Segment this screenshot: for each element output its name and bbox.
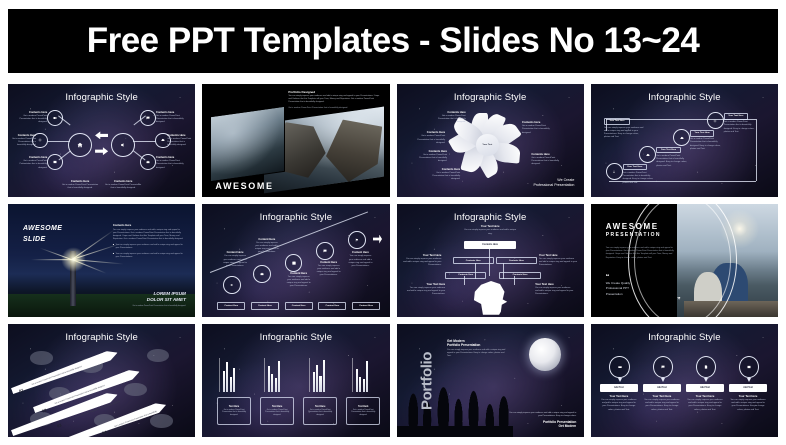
- label-heading: Contents Here: [17, 156, 47, 159]
- label-block: Contents Here Get a modern PowerPoint Pr…: [167, 134, 193, 147]
- side-label: Your Text Here: [402, 254, 441, 257]
- add-text-button-2[interactable]: Add Text: [643, 384, 680, 392]
- tree-silhouettes: [397, 360, 513, 437]
- label-body: Get a modern PowerPoint Presentation tha…: [60, 184, 99, 190]
- timeline-text-1: Content Here You can simply impress your…: [223, 251, 247, 268]
- mountain-photo-inset: [210, 106, 285, 182]
- step-body: Get a modern PowerPoint Presentation tha…: [724, 121, 756, 134]
- label-heading: Contents Here: [522, 121, 558, 124]
- slide-title: Infographic Style: [8, 332, 195, 343]
- label-body: Get a modern PowerPoint Presentation tha…: [167, 138, 193, 147]
- add-text-button-1[interactable]: Add Text: [600, 384, 637, 392]
- label-block: Contents Here Get a modern PowerPoint Pr…: [411, 150, 447, 163]
- callout-body: You can simply impress your audience and…: [604, 127, 645, 140]
- headline-1: Get Modern: [447, 339, 509, 343]
- slide-thumbnail-1[interactable]: Infographic Style: [8, 84, 195, 197]
- top-body: You can simply impress your audience and…: [464, 229, 516, 235]
- contents-block: Contents Here You can simply impress you…: [113, 224, 184, 259]
- timeline-icon-calendar: [285, 254, 303, 272]
- slide-title: Infographic Style: [591, 92, 778, 103]
- bar: [323, 360, 325, 392]
- header-banner: Free PPT Templates - Slides No 13~24: [8, 9, 778, 73]
- step-body-block: Get a modern PowerPoint Presentation tha…: [690, 138, 722, 151]
- quote-block: “ We Create Quality Professional PPT Pre…: [606, 275, 681, 303]
- slide-title: Infographic Style: [591, 332, 778, 343]
- label-body: Get a modern PowerPoint Presentation tha…: [531, 157, 567, 166]
- cloud-shape: [30, 351, 52, 365]
- card-body: Get a modern PowerPoint Presentation tha…: [262, 409, 292, 417]
- caption-body: You can simply impress your audience and…: [288, 95, 382, 104]
- timeline-text-2: Content Here You can simply impress your…: [255, 238, 279, 255]
- pin-head: [696, 356, 717, 379]
- label-body: Get a modern PowerPoint Presentation tha…: [410, 135, 446, 144]
- headline-2: Portfolio Presentation: [447, 343, 509, 347]
- pin-text-2: Your Text Here You can simply impress yo…: [643, 395, 680, 412]
- label-body: Get a modern PowerPoint Presentation tha…: [425, 172, 461, 181]
- page-root: Free PPT Templates - Slides No 13~24 Inf…: [0, 0, 786, 445]
- portfolio-caption: Portfolio Designed You can simply impres…: [288, 90, 382, 109]
- headline-block: Get Modern Portfolio Presentation You ca…: [447, 339, 509, 359]
- side-label-block: Your Text Here You can simply impress yo…: [406, 283, 445, 296]
- card-body: Get a modern PowerPoint Presentation tha…: [219, 409, 249, 417]
- pin-tail: [704, 378, 708, 382]
- footer-body: You can simply impress your audience and…: [509, 412, 576, 418]
- arrow-number-2: 02: [41, 407, 47, 413]
- side-label: Your Text Here: [539, 254, 578, 257]
- bar: [223, 371, 225, 392]
- step-body: Get a modern PowerPoint Presentation tha…: [623, 172, 655, 185]
- page-title: Free PPT Templates - Slides No 13~24: [87, 21, 700, 61]
- pin-body: You can simply impress your audience and…: [643, 399, 680, 412]
- side-body: You can simply impress your audience and…: [539, 258, 578, 267]
- label-block: Contents Here Get a modern PowerPoint Pr…: [10, 134, 36, 147]
- cloud-shape: [124, 383, 146, 397]
- label-heading: Contents Here: [156, 156, 186, 159]
- bar: [278, 361, 280, 392]
- step-body: You can simply impress your audience and…: [348, 255, 372, 268]
- side-body: You can simply impress your audience and…: [402, 258, 441, 267]
- bar: [313, 372, 315, 392]
- chart-axis: [309, 358, 310, 392]
- label-block: Contents Here Get a modern PowerPoint Pr…: [17, 111, 47, 124]
- footer-line-1: LOREM IPSUM: [132, 291, 185, 298]
- pin-tail: [618, 378, 622, 382]
- add-text-button-3[interactable]: Add Text: [686, 384, 723, 392]
- card-heading: Text Here: [229, 406, 239, 408]
- timeline-icon-briefcase: [253, 265, 271, 283]
- card-icon: [610, 357, 629, 378]
- bar: [319, 376, 321, 392]
- node-mid-left[interactable]: Contents Here: [453, 257, 494, 264]
- pin-head: [609, 356, 630, 379]
- pin-1[interactable]: [609, 356, 630, 379]
- label-heading: Contents Here: [425, 168, 461, 171]
- document-icon: [697, 357, 716, 378]
- timeline-button-1[interactable]: Content Here: [217, 302, 245, 310]
- step-body-block: Get a modern PowerPoint Presentation tha…: [724, 121, 756, 134]
- step-heading: Content Here: [316, 261, 340, 264]
- pin-body: You can simply impress your audience and…: [600, 399, 637, 412]
- bullet-text: You can simply impress your audience and…: [116, 253, 184, 259]
- contents-body: You can simply impress your audience and…: [113, 229, 184, 241]
- node-low-left[interactable]: Contents Here: [445, 272, 486, 279]
- chart-axis: [219, 358, 220, 392]
- bar: [366, 361, 368, 392]
- card-body: Get a modern PowerPoint Presentation tha…: [348, 409, 378, 417]
- step-heading: Content Here: [287, 272, 311, 275]
- title-line-1: AWESOME: [23, 224, 62, 235]
- step-body-block: Get a modern PowerPoint Presentation tha…: [656, 155, 688, 168]
- callout-label[interactable]: Your Text Here: [604, 118, 630, 125]
- slide-thumbnail-3[interactable]: Infographic Style Your Text Contents Her…: [397, 84, 584, 197]
- slide-title: AWESOME SLIDE: [23, 224, 62, 245]
- timeline-text-5: Content Here You can simply impress your…: [348, 251, 372, 268]
- side-label: Your Text Here: [535, 283, 574, 286]
- slide-thumbnail-9[interactable]: Infographic Style 01 Get a modern PowerP…: [8, 324, 195, 437]
- timeline-text-3: Content Here You can simply impress your…: [287, 272, 311, 289]
- bar: [356, 369, 358, 391]
- slide-footer: LOREM IPSUM DOLOR SIT AMET Get a modern …: [132, 291, 185, 308]
- side-label-block: Your Text Here You can simply impress yo…: [539, 254, 578, 267]
- label-body: Get a modern PowerPoint Presentation tha…: [156, 160, 186, 169]
- top-label-block: Your Text Here You can simply impress yo…: [464, 225, 516, 235]
- card-heading: Text Here: [315, 406, 325, 408]
- timeline-button-5[interactable]: Content Here: [352, 302, 380, 310]
- label-block: Contents Here Get a modern PowerPoint Pr…: [156, 111, 186, 124]
- timeline-button-2[interactable]: Content Here: [251, 302, 279, 310]
- core-label: Your Text: [482, 144, 492, 146]
- side-label-block: Your Text Here You can simply impress yo…: [535, 283, 574, 296]
- label-heading: Contents Here: [60, 180, 99, 183]
- bar: [233, 368, 235, 392]
- label-heading: Contents Here: [167, 134, 193, 137]
- title-line-2: SLIDE: [23, 235, 62, 246]
- bar: [226, 362, 228, 392]
- pin-tail: [661, 378, 665, 382]
- label-heading: Contents Here: [156, 111, 186, 114]
- label-block: Contents Here Get a modern PowerPoint Pr…: [430, 111, 466, 124]
- slide-title: Infographic Style: [202, 332, 389, 343]
- step-body: You can simply impress your audience and…: [255, 242, 279, 255]
- label-block: Contents Here Get a modern PowerPoint Pr…: [410, 131, 446, 144]
- slide-thumbnail-6[interactable]: Infographic Style Content Here You can s…: [202, 204, 389, 317]
- flower-core: Your Text: [476, 134, 498, 157]
- step-body: Get a modern PowerPoint Presentation tha…: [690, 138, 722, 151]
- bar-chart-group-2: [268, 358, 280, 392]
- step-icon-download: [606, 163, 623, 180]
- contents-heading: Contents Here: [113, 224, 184, 227]
- pin-heading: Your Text Here: [686, 395, 723, 398]
- footer-sub: Get a modern PowerPoint Presentation tha…: [132, 305, 185, 308]
- bar: [275, 378, 277, 392]
- step-body: You can simply impress your audience and…: [223, 255, 247, 268]
- chart-card-4[interactable]: Text Here Get a modern PowerPoint Presen…: [346, 397, 380, 424]
- title-line-2: PRESENTATION: [606, 232, 661, 238]
- add-text-button-4[interactable]: Add Text: [729, 384, 766, 392]
- label-block: Contents Here Get a modern PowerPoint Pr…: [531, 153, 567, 166]
- label-heading: Contents Here: [430, 111, 466, 114]
- slide-thumbnail-5[interactable]: AWESOME SLIDE Contents Here You can simp…: [8, 204, 195, 317]
- pin-heading: Your Text Here: [600, 395, 637, 398]
- card-heading: Text Here: [272, 406, 282, 408]
- timeline-icon-megaphone: [223, 276, 241, 294]
- callout-body-block: You can simply impress your audience and…: [604, 127, 645, 140]
- slide-thumbnail-12[interactable]: Infographic Style: [591, 324, 778, 437]
- label-heading: Contents Here: [103, 180, 142, 183]
- chart-axis: [264, 358, 265, 392]
- bar-chart-group-3: [313, 358, 325, 392]
- bullet-item: You can simply impress your audience and…: [113, 253, 184, 259]
- label-body: Get a modern PowerPoint Presentation tha…: [103, 184, 142, 190]
- slide-thumbnail-11[interactable]: Portfolio Get Modern Portfolio Presentat…: [397, 324, 584, 437]
- footer-line-2: Professional Presentation: [533, 183, 574, 189]
- label-body: Get a modern PowerPoint Presentation tha…: [522, 125, 558, 134]
- footer-line-2: DOLOR SIT AMET: [132, 297, 185, 304]
- step-label-1[interactable]: Your Text Here: [623, 164, 647, 170]
- step-label-3[interactable]: Your Text Here: [690, 130, 714, 136]
- slide-title: Infographic Style: [8, 92, 195, 103]
- bar: [230, 377, 232, 392]
- bar-chart-group-1: [223, 358, 235, 392]
- slide-body: You can simply impress your audience and…: [606, 247, 675, 260]
- slide-title: AWESOME PRESENTATION: [606, 222, 661, 238]
- label-block: Contents Here Get a modern PowerPoint Pr…: [522, 121, 558, 134]
- chart-axis: [352, 358, 353, 392]
- bullet-text: You can simply impress your audience and…: [116, 244, 184, 250]
- step-heading: Content Here: [255, 238, 279, 241]
- pin-heading: Your Text Here: [643, 395, 680, 398]
- label-block: Contents Here Get a modern PowerPoint Pr…: [17, 156, 47, 169]
- slide-grid: Infographic Style: [8, 84, 778, 437]
- chart-card-3[interactable]: Text Here Get a modern PowerPoint Presen…: [303, 397, 337, 424]
- label-body: Get a modern PowerPoint Presentation tha…: [17, 160, 47, 169]
- pin-text-1: Your Text Here You can simply impress yo…: [600, 395, 637, 412]
- footer-block: You can simply impress your audience and…: [509, 412, 576, 428]
- label-body: Get a modern PowerPoint Presentation tha…: [411, 154, 447, 163]
- pin-body: You can simply impress your audience and…: [729, 399, 766, 412]
- pin-text-3: Your Text Here You can simply impress yo…: [686, 395, 723, 412]
- chart-card-1[interactable]: Text Here Get a modern PowerPoint Presen…: [217, 397, 251, 424]
- caption-footnote: Get a modern PowerPoint Presentation tha…: [288, 107, 382, 109]
- step-heading: Content Here: [348, 251, 372, 254]
- label-block: Contents Here Get a modern PowerPoint Pr…: [425, 168, 461, 181]
- slide-thumbnail-2[interactable]: Portfolio Designed You can simply impres…: [202, 84, 389, 197]
- pin-tail: [747, 378, 751, 382]
- pin-head: [653, 356, 674, 379]
- side-label: Your Text Here: [406, 283, 445, 286]
- label-block: Contents Here Get a modern PowerPoint Pr…: [156, 156, 186, 169]
- slide-title: Infographic Style: [397, 92, 584, 103]
- image-icon: [740, 357, 759, 378]
- step-body-block: Get a modern PowerPoint Presentation tha…: [623, 172, 655, 185]
- step-body: You can simply impress your audience and…: [316, 265, 340, 278]
- timeline-text-4: Content Here You can simply impress your…: [316, 261, 340, 278]
- timeline-button-3[interactable]: Content Here: [285, 302, 313, 310]
- step-label-4[interactable]: Your Text Here: [724, 113, 748, 119]
- chat-icon: [654, 357, 673, 378]
- node-top[interactable]: Contents Here: [464, 241, 516, 249]
- label-body: Get a modern PowerPoint Presentation tha…: [10, 138, 36, 147]
- label-heading: Contents Here: [17, 111, 47, 114]
- label-body: Get a modern PowerPoint Presentation tha…: [156, 115, 186, 124]
- slide-thumbnail-10[interactable]: Infographic Style: [202, 324, 389, 437]
- chart-card-2[interactable]: Text Here Get a modern PowerPoint Presen…: [260, 397, 294, 424]
- label-body: Get a modern PowerPoint Presentation tha…: [430, 115, 466, 124]
- caption-title: Portfolio Designed: [288, 90, 382, 94]
- vertical-title: Portfolio: [419, 351, 436, 409]
- slide-thumbnail-4[interactable]: Infographic Style Your Text Here You can…: [591, 84, 778, 197]
- pin-3[interactable]: [696, 356, 717, 379]
- pin-text-4: Your Text Here You can simply impress yo…: [729, 395, 766, 412]
- node-mid-right[interactable]: Contents Here: [496, 257, 537, 264]
- slide-footer: We Create Professional Presentation: [533, 178, 574, 190]
- pin-body: You can simply impress your audience and…: [686, 399, 723, 412]
- awesome-badge: AWESOME: [215, 181, 273, 191]
- footer-heading-2: Get Modern: [509, 424, 576, 428]
- bullet-item: You can simply impress your audience and…: [113, 244, 184, 250]
- slide-thumbnail-8[interactable]: AWESOME PRESENTATION You can simply impr…: [591, 204, 778, 317]
- headline-body: You can simply impress your audience and…: [447, 349, 509, 358]
- step-heading: Content Here: [223, 251, 247, 254]
- pin-heading: Your Text Here: [729, 395, 766, 398]
- pin-head: [739, 356, 760, 379]
- bar: [359, 377, 361, 392]
- bar: [363, 379, 365, 392]
- pin-4[interactable]: [739, 356, 760, 379]
- bar-chart-group-4: [356, 358, 368, 392]
- card-heading: Text Here: [358, 406, 368, 408]
- node-low-right[interactable]: Contents Here: [499, 272, 540, 279]
- step-icon-cloud-upload: [673, 129, 690, 146]
- label-heading: Contents Here: [531, 153, 567, 156]
- step-icon-gear: [707, 112, 724, 129]
- card-body: Get a modern PowerPoint Presentation tha…: [305, 409, 335, 417]
- slide-thumbnail-7[interactable]: Infographic Style Contents Here Contents…: [397, 204, 584, 317]
- side-body: You can simply impress your audience and…: [535, 287, 574, 296]
- pin-2[interactable]: [653, 356, 674, 379]
- timeline-button-4[interactable]: Content Here: [318, 302, 346, 310]
- step-body: Get a modern PowerPoint Presentation tha…: [656, 155, 688, 168]
- label-heading: Contents Here: [410, 131, 446, 134]
- step-label-2[interactable]: Your Text Here: [656, 147, 680, 153]
- bar: [271, 374, 273, 392]
- slide-title: Infographic Style: [397, 212, 584, 223]
- label-block: Contents Here Get a modern PowerPoint Pr…: [103, 180, 142, 190]
- side-body: You can simply impress your audience and…: [406, 287, 445, 296]
- title-line-1: AWESOME: [606, 222, 661, 231]
- step-body: You can simply impress your audience and…: [287, 276, 311, 289]
- label-heading: Contents Here: [411, 150, 447, 153]
- label-body: Get a modern PowerPoint Presentation tha…: [17, 115, 47, 124]
- bar: [316, 365, 318, 392]
- lighthouse-glow: [60, 245, 86, 274]
- side-label-block: Your Text Here You can simply impress yo…: [402, 254, 441, 267]
- label-heading: Contents Here: [10, 134, 36, 137]
- bar: [268, 366, 270, 391]
- label-block: Contents Here Get a modern PowerPoint Pr…: [60, 180, 99, 190]
- quote-close-icon: ”: [606, 298, 681, 304]
